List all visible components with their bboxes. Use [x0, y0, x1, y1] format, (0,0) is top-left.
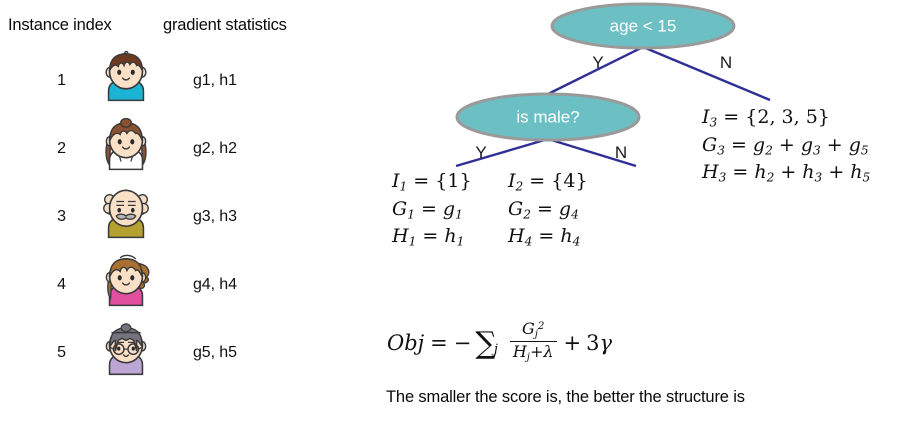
- objective-numerator: Gj2: [519, 321, 547, 341]
- leaf-3-hessian-sum: H3 = h2 + h3 + h5: [702, 159, 870, 187]
- table-row: 1 g1, h1: [0, 46, 350, 114]
- column-header-instance-index: Instance index: [8, 16, 112, 35]
- edge-label-root-no: N: [720, 53, 732, 72]
- gradient-statistics-value: g2, h2: [193, 140, 237, 158]
- edge-root-to-leaf3: [643, 47, 770, 100]
- old-man-olive-icon: [95, 186, 157, 248]
- objective-denominator: Hj+λ: [510, 341, 557, 363]
- objective-formula: Obj = − ∑ j Gj2 Hj+λ + 3γ: [387, 322, 612, 364]
- objective-minus: −: [454, 331, 472, 355]
- objective-plus: +: [564, 331, 582, 355]
- xgboost-tree-structure-figure: Instance index gradient statistics 1: [0, 0, 920, 421]
- objective-lhs: Obj: [387, 331, 424, 355]
- table-row: 3 g3, h3: [0, 182, 350, 250]
- leaf-1-instance-set: I1 = {1}: [392, 168, 472, 196]
- table-row: 2 g2, h2: [0, 114, 350, 182]
- instance-index-value: 1: [42, 72, 66, 90]
- column-header-gradient-statistics: gradient statistics: [163, 16, 287, 35]
- leaf-statistics-1: I1 = {1} G1 = g1 H1 = h1: [392, 168, 472, 251]
- leaf-1-hessian-sum: H1 = h1: [392, 223, 472, 251]
- instance-index-value: 2: [42, 140, 66, 158]
- tree-node-root[interactable]: age < 15: [552, 4, 734, 48]
- boy-teal-shirt-icon: [95, 50, 157, 112]
- objective-penalty: 3γ: [586, 331, 612, 355]
- girl-white-dress-icon: [95, 118, 157, 180]
- decision-tree-panel: age < 15 is male? Y N Y N I1 = {1} G1 = …: [350, 0, 920, 421]
- gradient-statistics-value: g3, h3: [193, 208, 237, 226]
- table-row: 5: [0, 318, 350, 386]
- summation-index: j: [494, 342, 498, 357]
- gradient-statistics-value: g4, h4: [193, 276, 237, 294]
- leaf-2-gradient-sum: G2 = g4: [508, 196, 588, 224]
- leaf-2-hessian-sum: H4 = h4: [508, 223, 588, 251]
- objective-fraction: Gj2 Hj+λ: [510, 321, 557, 363]
- objective-equals: =: [430, 331, 448, 355]
- edge-label-ismale-no: N: [615, 143, 627, 162]
- tree-node-is-male[interactable]: is male?: [457, 94, 639, 140]
- leaf-statistics-2: I2 = {4} G2 = g4 H4 = h4: [508, 168, 588, 251]
- instance-index-value: 3: [42, 208, 66, 226]
- edge-ismale-to-leaf1: [456, 139, 548, 166]
- old-woman-purple-icon: [95, 322, 157, 384]
- instance-index-value: 5: [42, 344, 66, 362]
- tree-node-is-male-label: is male?: [516, 107, 579, 126]
- leaf-2-instance-set: I2 = {4}: [508, 168, 588, 196]
- gradient-statistics-value: g1, h1: [193, 72, 237, 90]
- edge-label-ismale-yes: Y: [475, 143, 486, 162]
- girl-pink-shirt-icon: [95, 254, 157, 316]
- table-row: 4 g4, h4: [0, 250, 350, 318]
- gradient-statistics-value: g5, h5: [193, 344, 237, 362]
- leaf-1-gradient-sum: G1 = g1: [392, 196, 472, 224]
- leaf-statistics-3: I3 = {2, 3, 5} G3 = g2 + g3 + g5 H3 = h2…: [702, 104, 870, 187]
- edge-label-root-yes: Y: [592, 53, 603, 72]
- figure-caption: The smaller the score is, the better the…: [386, 388, 745, 407]
- instance-table: Instance index gradient statistics 1: [0, 0, 350, 421]
- instance-index-value: 4: [42, 276, 66, 294]
- tree-node-root-label: age < 15: [610, 16, 677, 35]
- leaf-3-instance-set: I3 = {2, 3, 5}: [702, 104, 870, 132]
- leaf-3-gradient-sum: G3 = g2 + g3 + g5: [702, 132, 870, 160]
